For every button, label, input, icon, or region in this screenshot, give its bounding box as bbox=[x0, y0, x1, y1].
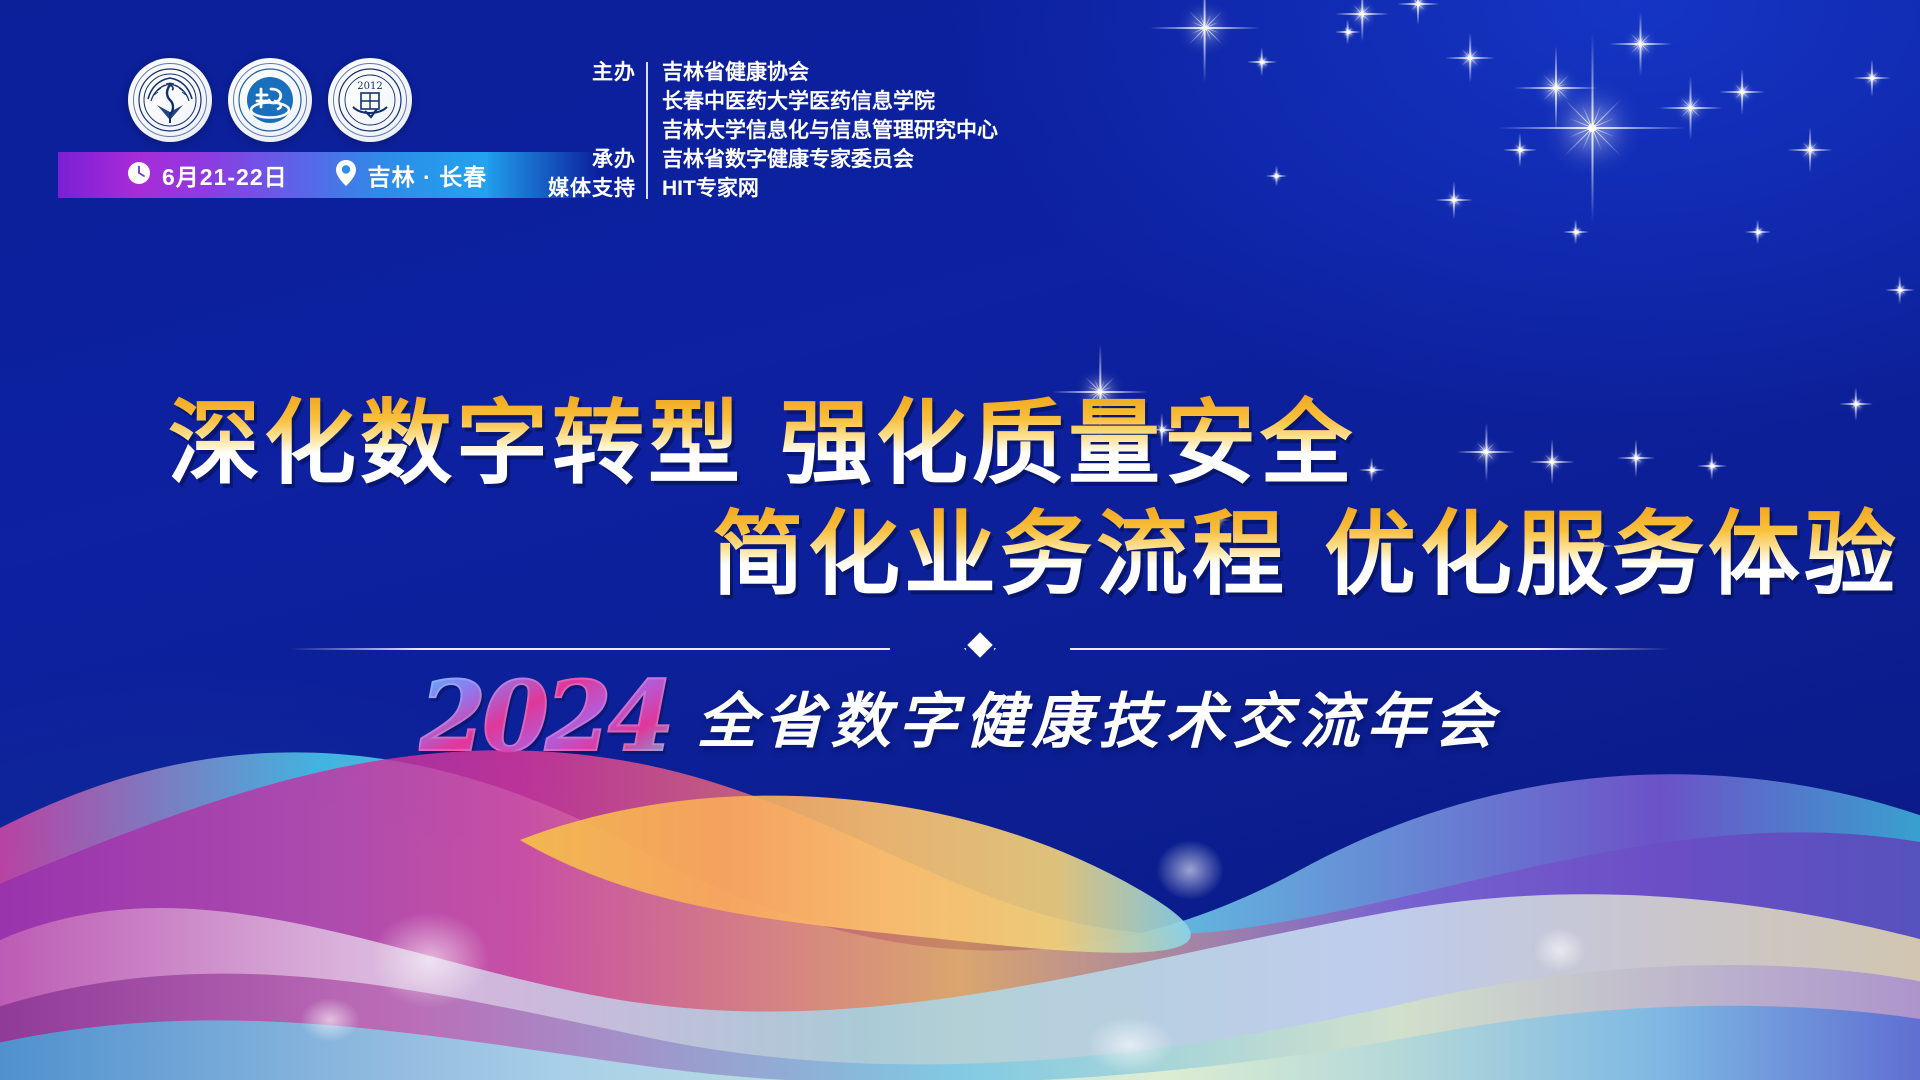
location-group: 吉林 · 长春 bbox=[334, 158, 487, 192]
headline-line-2: 简化业务流程 优化服务体验 bbox=[0, 503, 1920, 606]
divider-line-right bbox=[1070, 648, 1670, 650]
date-text: 6月21-22日 bbox=[162, 158, 288, 192]
organizer-label: 媒体支持 bbox=[540, 174, 636, 203]
organizer-divider bbox=[646, 62, 648, 199]
organizer-value: 吉林大学信息化与信息管理研究中心 bbox=[662, 116, 998, 145]
svg-text:2012: 2012 bbox=[357, 81, 382, 92]
jilin-university-research-center-emblem: 2012 bbox=[328, 58, 412, 142]
organizer-label: 承办 bbox=[540, 145, 636, 174]
jilin-health-association-emblem bbox=[128, 58, 212, 142]
headline-line-1: 深化数字转型 强化质量安全 bbox=[0, 392, 1920, 495]
headline-block: 深化数字转型 强化质量安全 简化业务流程 优化服务体验 bbox=[0, 392, 1920, 606]
organizer-labels: 主办··承办媒体支持 bbox=[540, 58, 636, 203]
organizer-label: 主办 bbox=[540, 58, 636, 87]
school-of-medical-information-emblem bbox=[228, 58, 312, 142]
organizer-values: 吉林省健康协会长春中医药大学医药信息学院吉林大学信息化与信息管理研究中心吉林省数… bbox=[662, 58, 998, 203]
location-text: 吉林 · 长春 bbox=[368, 158, 487, 192]
organizer-value: 吉林省数字健康专家委员会 bbox=[662, 145, 998, 174]
organizer-value: 长春中医药大学医药信息学院 bbox=[662, 87, 998, 116]
conference-poster: 2012 6月21-22日 bbox=[0, 0, 1920, 1080]
organizer-block: 主办··承办媒体支持 吉林省健康协会长春中医药大学医药信息学院吉林大学信息化与信… bbox=[540, 58, 998, 203]
divider-line-left bbox=[290, 648, 890, 650]
map-pin-icon bbox=[334, 159, 358, 192]
date-group: 6月21-22日 bbox=[126, 158, 288, 192]
clock-icon bbox=[126, 160, 152, 191]
wave-graphic bbox=[0, 660, 1920, 1080]
date-location-bar: 6月21-22日 吉林 · 长春 bbox=[58, 152, 488, 198]
organizer-value: HIT专家网 bbox=[662, 174, 998, 203]
organizer-logos: 2012 bbox=[128, 58, 412, 142]
organizer-value: 吉林省健康协会 bbox=[662, 58, 998, 87]
